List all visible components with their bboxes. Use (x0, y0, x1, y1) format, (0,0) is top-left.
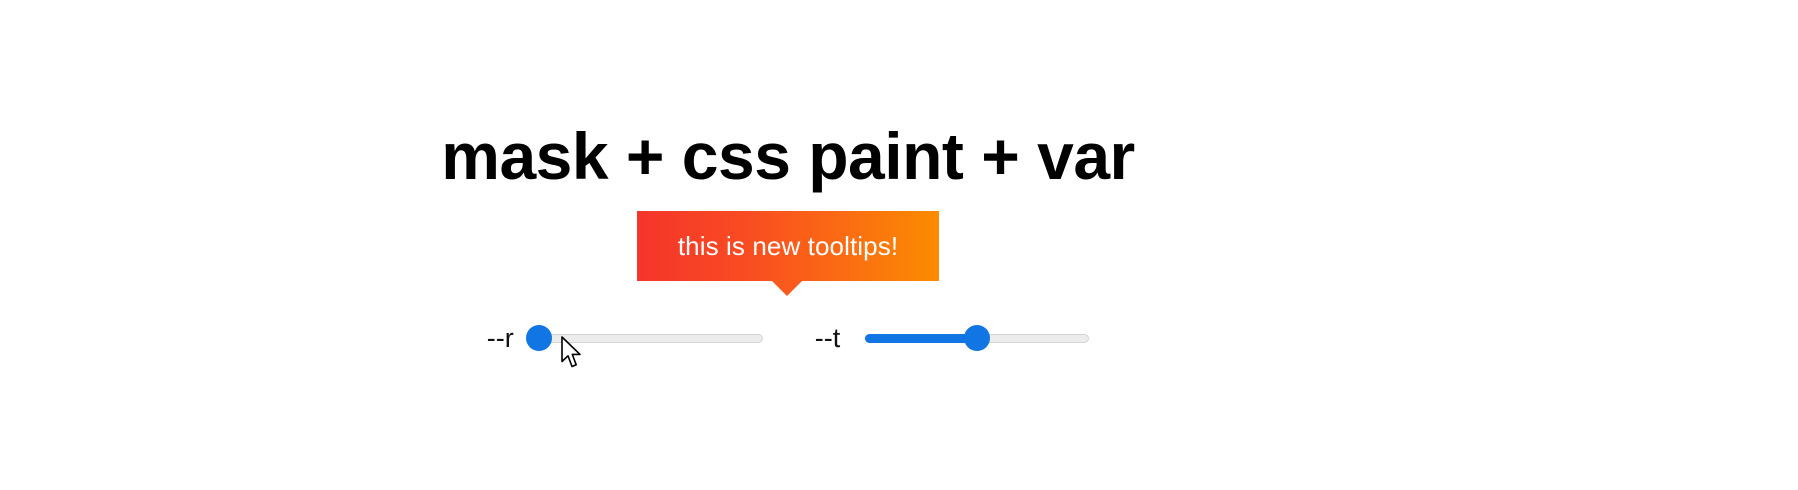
tooltip: this is new tooltips! (637, 211, 939, 281)
slider-radius-thumb[interactable] (526, 325, 552, 351)
slider-label-radius: --r (487, 325, 514, 352)
control-group-radius: --r (487, 325, 763, 352)
control-group-tail: --t (815, 325, 1089, 352)
page-title: mask + css paint + var (0, 120, 1576, 193)
slider-tail-fill (865, 334, 977, 343)
slider-label-tail: --t (815, 325, 840, 352)
tooltip-arrow-icon (771, 280, 803, 296)
tooltip-body: this is new tooltips! (637, 211, 939, 281)
slider-tail-thumb[interactable] (964, 325, 990, 351)
tooltip-label: this is new tooltips! (678, 233, 898, 259)
slider-radius-track[interactable] (539, 334, 763, 343)
page-canvas: mask + css paint + var this is new toolt… (0, 0, 1798, 490)
slider-controls-row: --r --t (0, 318, 1576, 358)
slider-radius[interactable] (539, 326, 763, 350)
slider-tail[interactable] (865, 326, 1089, 350)
